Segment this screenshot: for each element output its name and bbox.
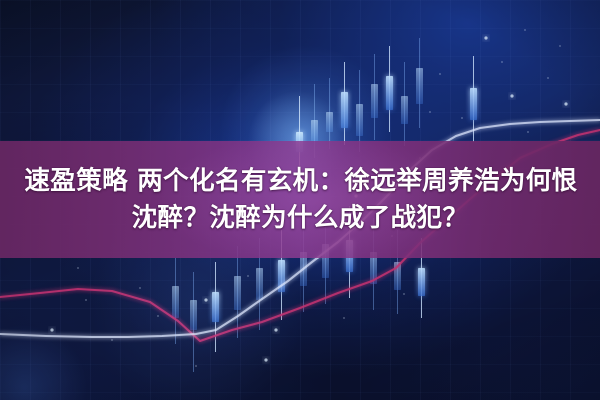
title-line-2: 沈醉？沈醉为什么成了战犯？ — [132, 202, 469, 235]
title-line-1: 速盈策略 两个化名有玄机：徐远举周养浩为何恨 — [22, 165, 577, 198]
title-block: 速盈策略 两个化名有玄机：徐远举周养浩为何恨 沈醉？沈醉为什么成了战犯？ — [0, 141, 600, 258]
thumbnail-image: 速盈策略 两个化名有玄机：徐远举周养浩为何恨 沈醉？沈醉为什么成了战犯？ — [0, 0, 600, 400]
